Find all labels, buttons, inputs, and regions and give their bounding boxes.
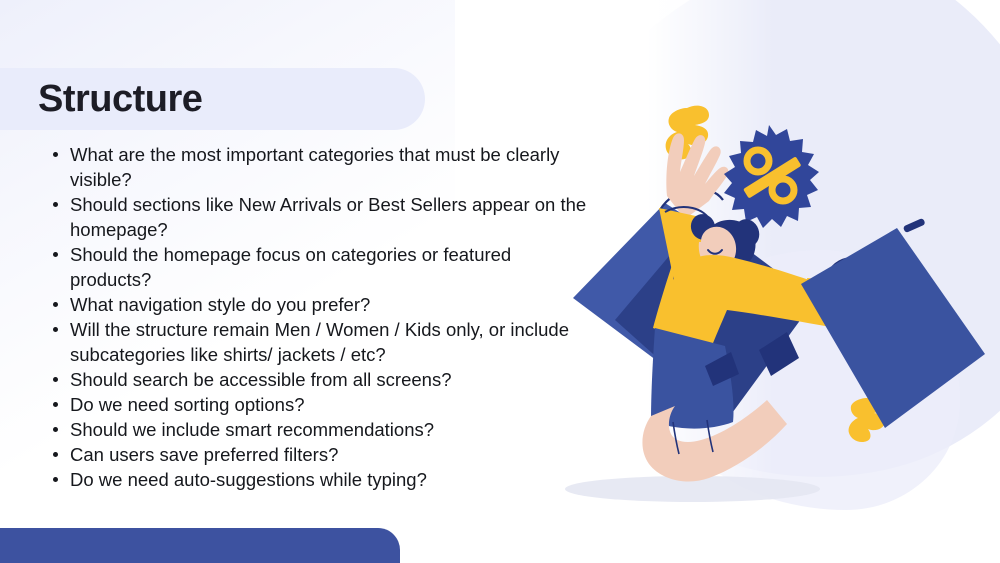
footer-accent-bar — [0, 528, 400, 563]
list-item: Should we include smart recommendations? — [70, 417, 590, 442]
list-item: What are the most important categories t… — [70, 142, 590, 192]
list-item: Can users save preferred filters? — [70, 442, 590, 467]
percent-discount-badge — [724, 125, 819, 228]
right-shopping-bag — [801, 218, 985, 428]
list-item: Will the structure remain Men / Women / … — [70, 317, 590, 367]
question-list: What are the most important categories t… — [44, 142, 590, 492]
list-item: Should the homepage focus on categories … — [70, 242, 590, 292]
shopping-illustration — [555, 90, 1000, 520]
illustration-svg — [555, 90, 1000, 520]
page-title: Structure — [38, 72, 202, 126]
list-item: Do we need auto-suggestions while typing… — [70, 467, 590, 492]
list-item: What navigation style do you prefer? — [70, 292, 590, 317]
list-item: Should search be accessible from all scr… — [70, 367, 590, 392]
slide-canvas: Structure What are the most important ca… — [0, 0, 1000, 563]
list-item: Do we need sorting options? — [70, 392, 590, 417]
list-item: Should sections like New Arrivals or Bes… — [70, 192, 590, 242]
